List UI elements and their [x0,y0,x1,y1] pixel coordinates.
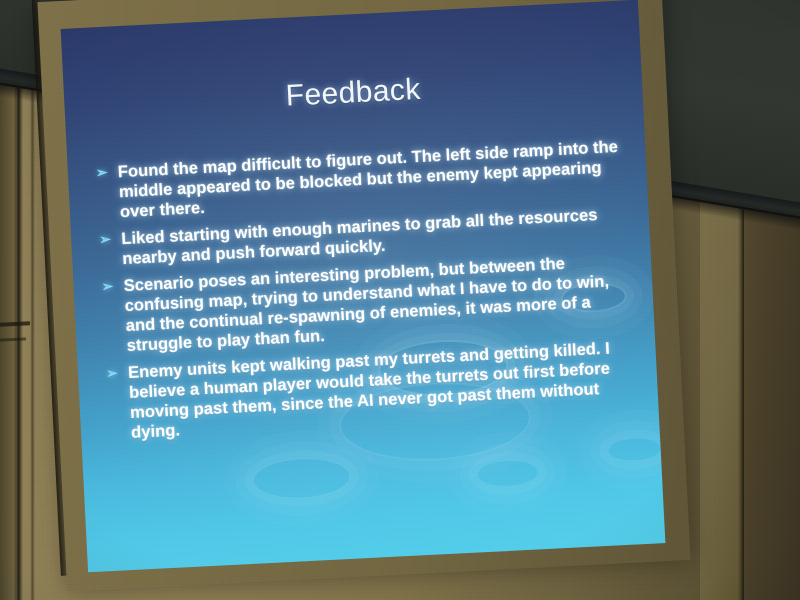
bullet-item: ➢ Enemy units kept walking past my turre… [106,337,645,444]
arrow-bullet-icon: ➢ [106,364,119,381]
water-ripple-icon [251,455,353,502]
projected-slide: Feedback ➢ Found the map difficult to fi… [61,0,666,572]
water-ripple-icon [606,435,663,464]
bullet-text: Enemy units kept walking past my turrets… [128,338,611,441]
slide-title: Feedback [64,62,643,125]
water-ripple-icon [475,457,540,489]
photo-frame: Feedback ➢ Found the map difficult to fi… [0,0,800,600]
arrow-bullet-icon: ➢ [101,278,114,295]
slide-bullet-list: ➢ Found the map difficult to figure out.… [95,136,645,451]
arrow-bullet-icon: ➢ [99,231,112,248]
arrow-bullet-icon: ➢ [96,164,109,181]
bullet-text: Scenario poses an interesting problem, b… [123,254,609,355]
